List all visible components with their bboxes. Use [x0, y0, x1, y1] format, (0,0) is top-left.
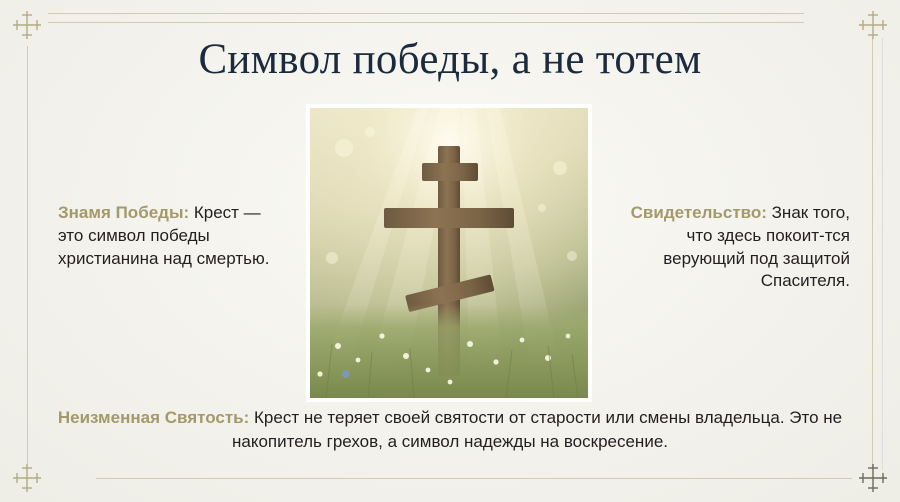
cross-ornament-icon-bottom-left	[10, 461, 44, 495]
frame-rule-right-outer	[872, 38, 873, 470]
slide-canvas: Символ победы, а не тотем	[0, 0, 900, 502]
cross-photo	[310, 108, 588, 398]
text-block-bottom-body: Крест не теряет своей святости от старос…	[232, 408, 842, 451]
page-title: Символ победы, а не тотем	[0, 36, 900, 83]
frame-rule-bottom	[96, 478, 852, 479]
text-block-left-label: Знамя Победы:	[58, 203, 189, 222]
frame-rule-left	[27, 46, 28, 464]
text-block-left: Знамя Победы: Крест — это символ победы …	[58, 202, 290, 270]
cross-ornament-icon-bottom-right	[856, 461, 890, 495]
text-block-right-label: Свидетельство:	[631, 203, 767, 222]
frame-rule-top-outer	[48, 13, 804, 14]
frame-rule-right-inner	[882, 38, 883, 470]
frame-rule-top-inner	[48, 22, 804, 23]
text-block-bottom: Неизменная Святость: Крест не теряет сво…	[52, 406, 848, 454]
text-block-right: Свидетельство: Знак того, что здесь поко…	[608, 202, 850, 293]
text-block-bottom-label: Неизменная Святость:	[58, 408, 249, 427]
